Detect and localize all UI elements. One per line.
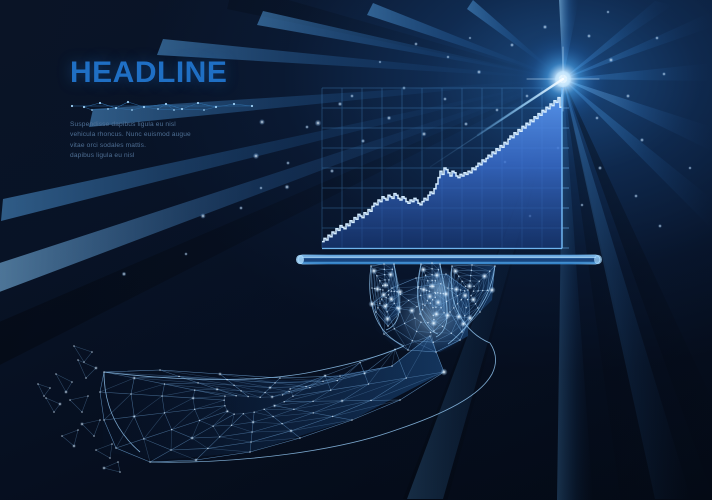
banner-canvas: HEADLINE	[0, 0, 712, 500]
body-line: vehicula rhoncus. Nunc euismod augue	[70, 130, 300, 140]
body-line: Suspendisse dapibus ligula eu nisl	[70, 120, 300, 130]
body-line: vitae orci sodales mattis.	[70, 141, 300, 151]
text-block: HEADLINE	[70, 58, 300, 162]
page-title: HEADLINE	[70, 58, 300, 88]
polygonal-mesh-divider	[70, 98, 256, 114]
body-line: dapibus ligula eu nisl	[70, 151, 300, 161]
body-copy: Suspendisse dapibus ligula eu nisl vehic…	[70, 120, 300, 162]
